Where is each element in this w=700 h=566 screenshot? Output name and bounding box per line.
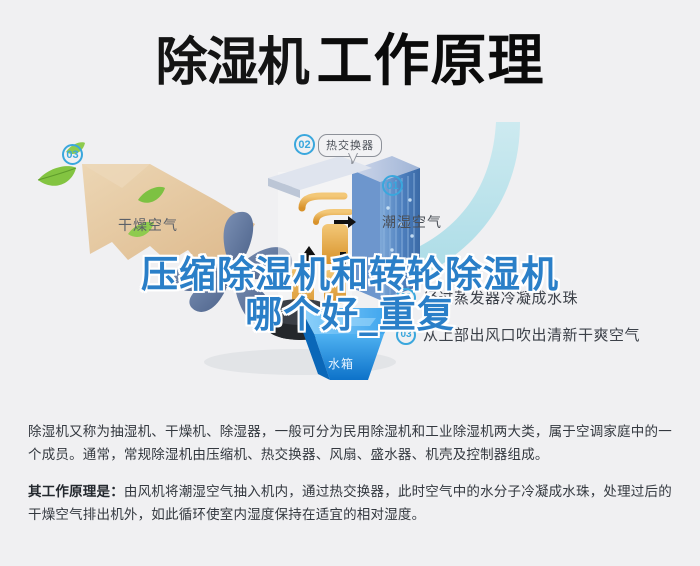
badge-step-03-dry-air: 03: [62, 144, 83, 165]
step-number: 02: [396, 288, 416, 308]
page-root: 除湿机 工作原理: [0, 0, 700, 566]
callout-tail-icon: [348, 153, 358, 164]
step-number: 03: [396, 325, 416, 345]
body-copy: 除湿机又称为抽湿机、干燥机、除湿器，一般可分为民用除湿机和工业除湿机两大类，属于…: [28, 420, 676, 530]
step-text: 经过蒸发器冷凝成水珠: [423, 287, 578, 308]
label-dry-air: 干燥空气: [118, 215, 178, 235]
step-text: 从上部出风口吹出清新干爽空气: [423, 324, 640, 345]
body-paragraph-2-label: 其工作原理是：: [28, 484, 124, 499]
body-paragraph-2: 其工作原理是：由风机将潮湿空气抽入机内，通过热交换器，此时空气中的水分子冷凝成水…: [28, 480, 676, 526]
paragraph-spacer: [28, 470, 676, 480]
body-paragraph-1: 除湿机又称为抽湿机、干燥机、除湿器，一般可分为民用除湿机和工业除湿机两大类，属于…: [28, 420, 676, 466]
page-header: 除湿机 工作原理: [0, 18, 700, 106]
page-title: 除湿机 工作原理: [155, 34, 544, 90]
badge-step-02-heat-exchanger: 02: [294, 134, 315, 155]
list-item: 02 经过蒸发器冷凝成水珠: [396, 287, 696, 308]
badge-step-01-humid-air: 01: [382, 175, 403, 196]
label-water-tank: 水箱: [328, 355, 354, 372]
process-step-list: 02 经过蒸发器冷凝成水珠 03 从上部出风口吹出清新干爽空气: [396, 287, 696, 361]
page-title-part1: 除湿机: [155, 37, 308, 89]
list-item: 03 从上部出风口吹出清新干爽空气: [396, 324, 696, 345]
label-humid-air: 潮湿空气: [382, 212, 442, 232]
page-title-part2: 工作原理: [317, 34, 545, 90]
body-paragraph-2-text: 由风机将潮湿空气抽入机内，通过热交换器，此时空气中的水分子冷凝成水珠，处理过后的…: [28, 484, 672, 522]
